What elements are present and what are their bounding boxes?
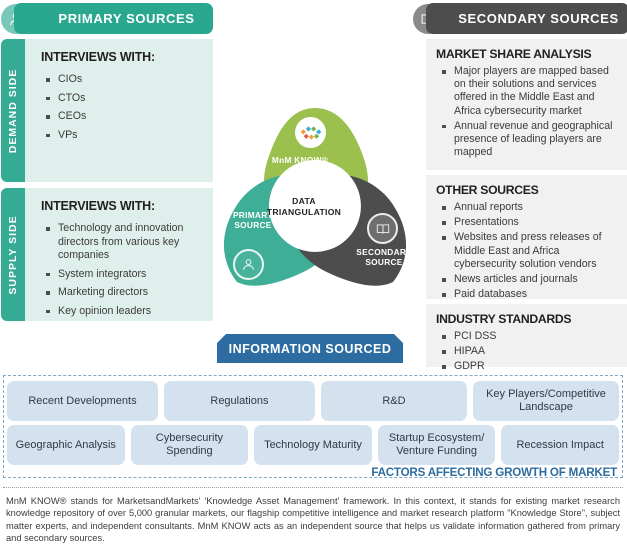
industry-standards-list: PCI DSS HIPAA GDPR — [440, 330, 623, 376]
list-item: Presentations — [440, 216, 623, 229]
list-item: Websites and press releases of Middle Ea… — [440, 231, 623, 271]
list-item: VPs — [44, 129, 207, 143]
factor-cell[interactable]: R&D — [321, 381, 467, 421]
supply-side-tab: SUPPLY SIDE — [1, 188, 25, 321]
list-item: CEOs — [44, 110, 207, 124]
factor-cell[interactable]: Key Players/Competitive Landscape — [473, 381, 619, 421]
factors-row-1: Recent Developments Regulations R&D Key … — [7, 381, 619, 421]
list-item: GDPR — [440, 360, 623, 373]
list-item: Key opinion leaders — [44, 305, 207, 319]
list-item: Annual reports — [440, 201, 623, 214]
demand-side-label: DEMAND SIDE — [7, 68, 19, 153]
list-item: System integrators — [44, 268, 207, 282]
supply-side-panel: INTERVIEWS WITH: Technology and innovati… — [25, 188, 213, 321]
list-item: Annual revenue and geographical presence… — [440, 120, 623, 160]
other-sources-title: OTHER SOURCES — [436, 183, 538, 197]
footnote-divider — [3, 487, 623, 488]
supply-side-label: SUPPLY SIDE — [7, 215, 19, 294]
factor-cell[interactable]: Startup Ecosystem/ Venture Funding — [378, 425, 496, 465]
factor-cell[interactable]: Recent Developments — [7, 381, 158, 421]
primary-sources-title-bar: PRIMARY SOURCES — [14, 3, 213, 34]
book-icon — [367, 213, 398, 244]
list-item: CIOs — [44, 73, 207, 87]
list-item: News articles and journals — [440, 273, 623, 286]
secondary-source-label: SECONDARY SOURCE — [348, 247, 420, 267]
information-sourced-banner: INFORMATION SOURCED — [217, 334, 403, 363]
person-icon — [233, 249, 264, 280]
list-item: PCI DSS — [440, 330, 623, 343]
secondary-sources-title-bar: SECONDARY SOURCES — [426, 3, 627, 34]
factor-cell[interactable]: Cybersecurity Spending — [131, 425, 249, 465]
factor-cell[interactable]: Technology Maturity — [254, 425, 372, 465]
footnote-text: MnM KNOW® stands for MarketsandMarkets' … — [6, 495, 620, 545]
factor-cell[interactable]: Regulations — [164, 381, 315, 421]
supply-interview-list: Technology and innovation directors from… — [44, 222, 207, 324]
market-share-analysis-section: MARKET SHARE ANALYSIS Major players are … — [426, 39, 627, 170]
information-sourced-label: INFORMATION SOURCED — [229, 342, 392, 356]
factors-row-2: Geographic Analysis Cybersecurity Spendi… — [7, 425, 619, 465]
other-sources-list: Annual reports Presentations Websites an… — [440, 201, 623, 303]
demand-side-tab: DEMAND SIDE — [1, 39, 25, 182]
list-item: Major players are mapped based on their … — [440, 65, 623, 118]
factor-cell[interactable]: Recession Impact — [501, 425, 619, 465]
market-share-title: MARKET SHARE ANALYSIS — [436, 47, 591, 61]
primary-sources-label: PRIMARY SOURCES — [32, 11, 194, 26]
primary-sources-header: PRIMARY SOURCES — [0, 3, 213, 34]
list-item: Marketing directors — [44, 286, 207, 300]
demand-side-panel: INTERVIEWS WITH: CIOs CTOs CEOs VPs — [25, 39, 213, 182]
factor-cell[interactable]: Geographic Analysis — [7, 425, 125, 465]
factors-caption: FACTORS AFFECTING GROWTH OF MARKET — [0, 466, 617, 479]
list-item: Paid databases — [440, 288, 623, 301]
secondary-sources-label: SECONDARY SOURCES — [436, 11, 618, 26]
industry-standards-section: INDUSTRY STANDARDS PCI DSS HIPAA GDPR — [426, 304, 627, 367]
secondary-sources-header: SECONDARY SOURCES — [412, 3, 627, 34]
diamond-cluster-icon — [295, 117, 326, 148]
supply-panel-title: INTERVIEWS WITH: — [41, 199, 155, 213]
market-share-list: Major players are mapped based on their … — [440, 65, 623, 161]
mnm-know-label: MnM KNOW® — [258, 155, 342, 165]
list-item: CTOs — [44, 92, 207, 106]
list-item: Technology and innovation directors from… — [44, 222, 207, 263]
industry-standards-title: INDUSTRY STANDARDS — [436, 312, 571, 326]
other-sources-section: OTHER SOURCES Annual reports Presentatio… — [426, 175, 627, 299]
demand-panel-title: INTERVIEWS WITH: — [41, 50, 155, 64]
list-item: HIPAA — [440, 345, 623, 358]
demand-interview-list: CIOs CTOs CEOs VPs — [44, 73, 207, 147]
data-triangulation-label: DATA TRIANGULATION — [266, 196, 342, 218]
